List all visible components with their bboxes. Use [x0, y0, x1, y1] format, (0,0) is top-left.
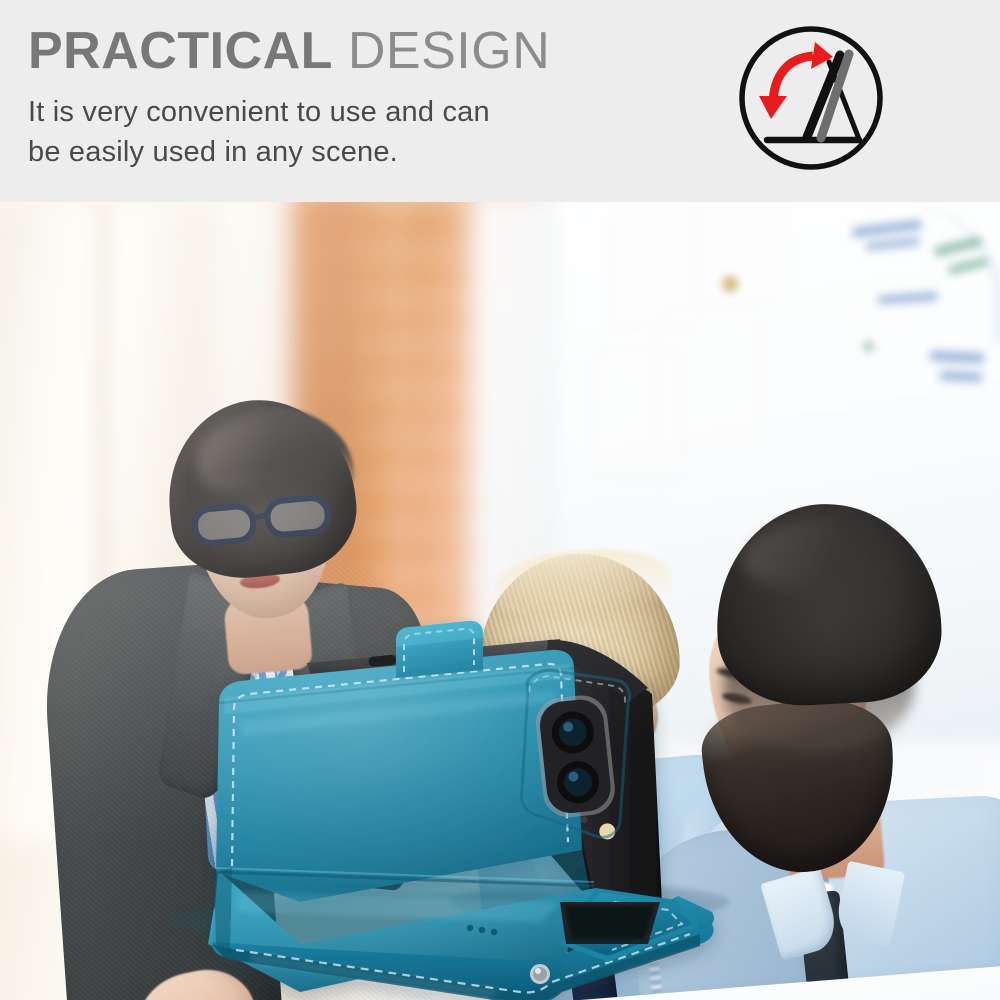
subtitle-line-1: It is very convenient to use and can: [28, 92, 688, 132]
page-title: PRACTICAL DESIGN: [28, 20, 688, 82]
headline-light: DESIGN: [348, 22, 550, 80]
page-subtitle: It is very convenient to use and can be …: [28, 92, 688, 172]
header-band: PRACTICAL DESIGN It is very convenient t…: [0, 0, 1000, 202]
subtitle-line-2: be easily used in any scene.: [28, 132, 688, 172]
headline-strong: PRACTICAL: [28, 22, 333, 80]
header-text-block: PRACTICAL DESIGN It is very convenient t…: [28, 20, 688, 172]
teal-leather-wallet-phone-case: [0, 202, 1000, 1000]
adjustable-stand-icon: [737, 22, 885, 174]
product-feature-banner: PRACTICAL DESIGN It is very convenient t…: [0, 0, 1000, 1000]
office-meeting-photo: [0, 202, 1000, 1000]
